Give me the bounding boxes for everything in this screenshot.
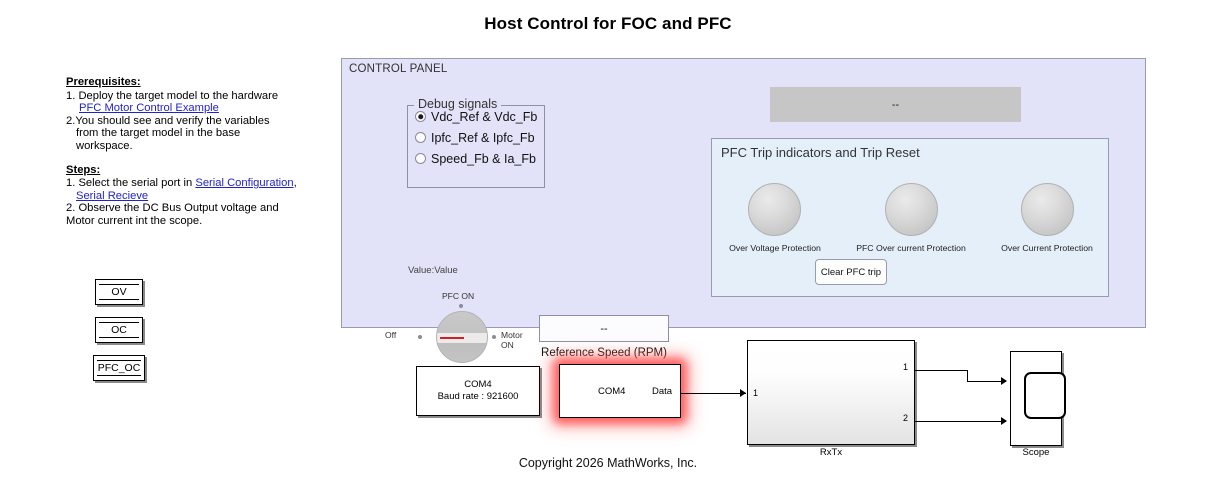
control-panel: CONTROL PANEL Debug signals Vdc_Ref & Vd… — [341, 58, 1146, 328]
debug-option-vdc-label: Vdc_Ref & Vdc_Fb — [431, 110, 537, 124]
knob-pointer-icon — [440, 337, 464, 339]
serial-configuration-link[interactable]: Serial Configuration — [195, 177, 293, 189]
scope-screen-icon — [1024, 372, 1066, 419]
indicator-lamp-over-current-icon[interactable] — [1021, 183, 1074, 236]
serial-receive-label: COM4 — [598, 386, 625, 398]
instructions-spacer — [66, 153, 312, 164]
debug-signals-legend: Debug signals — [414, 97, 501, 111]
arrow-serialrx-to-rxtx-icon — [740, 389, 746, 397]
knob-dial-icon[interactable] — [436, 311, 488, 363]
wire-rxtx-out2 — [915, 421, 1006, 422]
display-block-ov-inner: OV — [99, 284, 139, 301]
display-block-pfc-oc[interactable]: PFC_OC — [93, 355, 145, 381]
copyright-text: Copyright 2026 MathWorks, Inc. — [0, 456, 1216, 470]
arrow-rxtx-out1-to-scope-icon — [1001, 377, 1007, 385]
page-title: Host Control for FOC and PFC — [0, 14, 1216, 34]
prerequisite-2-line2: from the target model in the base — [66, 127, 312, 140]
knob-tick-left-icon — [418, 335, 422, 339]
wire-rxtx-out1-seg1 — [915, 370, 968, 371]
indicator-label-over-current: Over Current Protection — [985, 243, 1109, 253]
display-block-pfc-oc-inner: PFC_OC — [97, 360, 141, 377]
prerequisite-item-2: 2.You should see and verify the variable… — [66, 115, 312, 153]
rxtx-input-port-1-label: 1 — [753, 388, 758, 398]
serial-receive-link[interactable]: Serial Recieve — [66, 190, 312, 203]
prerequisite-item-1: 1. Deploy the target model to the hardwa… — [66, 90, 312, 115]
display-block-ov-label: OV — [111, 286, 126, 298]
debug-option-ipfc-label: Ipfc_Ref & Ipfc_Fb — [431, 131, 535, 145]
steps-heading: Steps: — [66, 164, 312, 177]
instructions-panel: Prerequisites: 1. Deploy the target mode… — [66, 76, 312, 228]
knob-label-motor-on: Motor ON — [501, 330, 530, 350]
display-block-pfc-oc-label: PFC_OC — [98, 362, 141, 374]
rxtx-output-port-1-label: 1 — [903, 362, 908, 372]
knob-label-pfc-on: PFC ON — [442, 291, 474, 301]
indicator-label-over-voltage: Over Voltage Protection — [712, 243, 838, 253]
display-block-oc[interactable]: OC — [95, 317, 143, 343]
prerequisite-2-line3: workspace. — [66, 140, 312, 153]
step-2-line1: 2. Observe the DC Bus Output voltage and — [66, 202, 279, 214]
serial-receive-block[interactable]: COM4 Data — [559, 364, 681, 418]
pfc-trip-panel-title: PFC Trip indicators and Trip Reset — [721, 145, 920, 160]
debug-option-speed-label: Speed_Fb & Ia_Fb — [431, 152, 536, 166]
debug-option-speed[interactable]: Speed_Fb & Ia_Fb — [415, 148, 544, 169]
step-item-2: 2. Observe the DC Bus Output voltage and… — [66, 202, 312, 227]
pfc-motor-control-example-link[interactable]: PFC Motor Control Example — [66, 102, 312, 115]
reference-speed-label: Reference Speed (RPM) — [539, 347, 669, 359]
pfc-trip-panel: PFC Trip indicators and Trip Reset Over … — [711, 138, 1109, 297]
display-block-oc-label: OC — [111, 324, 127, 336]
reference-speed-input[interactable]: -- — [539, 315, 669, 342]
step-2-line2: Motor current int the scope. — [66, 215, 312, 228]
prerequisites-heading: Prerequisites: — [66, 76, 312, 89]
knob-label-off: Off — [385, 330, 396, 340]
serial-receive-output-port-label: Data — [652, 386, 672, 398]
serial-config-line1: COM4 — [417, 379, 539, 391]
knob-tick-top-icon — [459, 304, 463, 308]
control-panel-title: CONTROL PANEL — [349, 63, 447, 75]
indicator-lamp-over-voltage-icon[interactable] — [748, 183, 801, 236]
radio-button-speed-icon[interactable] — [415, 153, 426, 164]
debug-option-ipfc[interactable]: Ipfc_Ref & Ipfc_Fb — [415, 127, 544, 148]
step-item-1: 1. Select the serial port in Serial Conf… — [66, 177, 312, 202]
serial-configuration-block[interactable]: COM4 Baud rate : 921600 — [416, 366, 540, 416]
display-block-oc-inner: OC — [99, 322, 139, 339]
indicator-label-pfc-over-current: PFC Over current Protection — [837, 243, 985, 253]
rxtx-subsystem-block[interactable]: 1 1 2 — [747, 340, 915, 445]
knob-tick-right-icon — [492, 335, 496, 339]
serial-config-line2: Baud rate : 921600 — [417, 391, 539, 403]
debug-signals-group: Debug signals Vdc_Ref & Vdc_Fb Ipfc_Ref … — [407, 105, 545, 188]
radio-button-vdc-icon[interactable] — [415, 111, 426, 122]
radio-button-ipfc-icon[interactable] — [415, 132, 426, 143]
step-1-prefix: 1. Select the serial port in — [66, 177, 195, 189]
pfc-mode-knob[interactable]: PFC ON Off Motor ON — [390, 291, 530, 371]
value-readout-label: Value:Value — [408, 265, 458, 276]
prerequisite-2-line1: 2.You should see and verify the variable… — [66, 115, 270, 127]
indicator-lamp-pfc-over-current-icon[interactable] — [885, 183, 938, 236]
display-block-ov[interactable]: OV — [95, 279, 143, 305]
top-status-display: -- — [770, 87, 1021, 122]
clear-pfc-trip-button[interactable]: Clear PFC trip — [815, 259, 887, 285]
arrow-rxtx-out2-to-scope-icon — [1001, 417, 1007, 425]
wire-serialrx-to-rxtx — [681, 393, 746, 394]
rxtx-output-port-2-label: 2 — [903, 413, 908, 423]
step-1-comma: , — [294, 177, 297, 189]
prerequisite-1-text: 1. Deploy the target model to the hardwa… — [66, 90, 278, 102]
scope-block[interactable] — [1010, 351, 1062, 446]
